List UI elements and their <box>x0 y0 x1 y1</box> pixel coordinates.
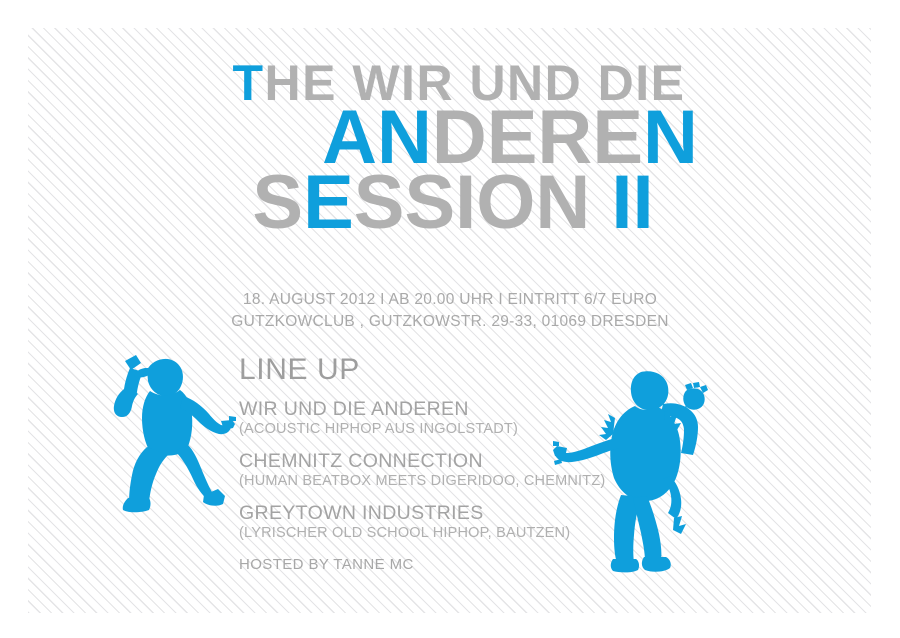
headline-line-3: SESSION II <box>0 170 900 235</box>
rapper-with-microphone-icon <box>103 351 238 516</box>
event-venue-line: GUTZKOWCLUB , GUTZKOWSTR. 29-33, 01069 D… <box>0 311 900 333</box>
headline-line-1-blue: T <box>232 55 264 111</box>
headline-block: THE WIR UND DIE ANDEREN SESSION II <box>0 62 900 236</box>
bboy-dancer-icon <box>553 368 728 573</box>
event-datetime-price-line: 18. AUGUST 2012 I AB 20.00 UHR I EINTRIT… <box>0 289 900 311</box>
event-info-block: 18. AUGUST 2012 I AB 20.00 UHR I EINTRIT… <box>0 289 900 333</box>
headline-line-3-blue-suffix: II <box>611 160 653 245</box>
headline-line-3-gray-rest: SSION <box>354 160 612 245</box>
headline-line-3-blue-middle: E <box>303 160 354 245</box>
headline-line-3-gray-prefix: S <box>252 160 303 245</box>
flyer-poster: THE WIR UND DIE ANDEREN SESSION II 18. A… <box>0 0 900 638</box>
